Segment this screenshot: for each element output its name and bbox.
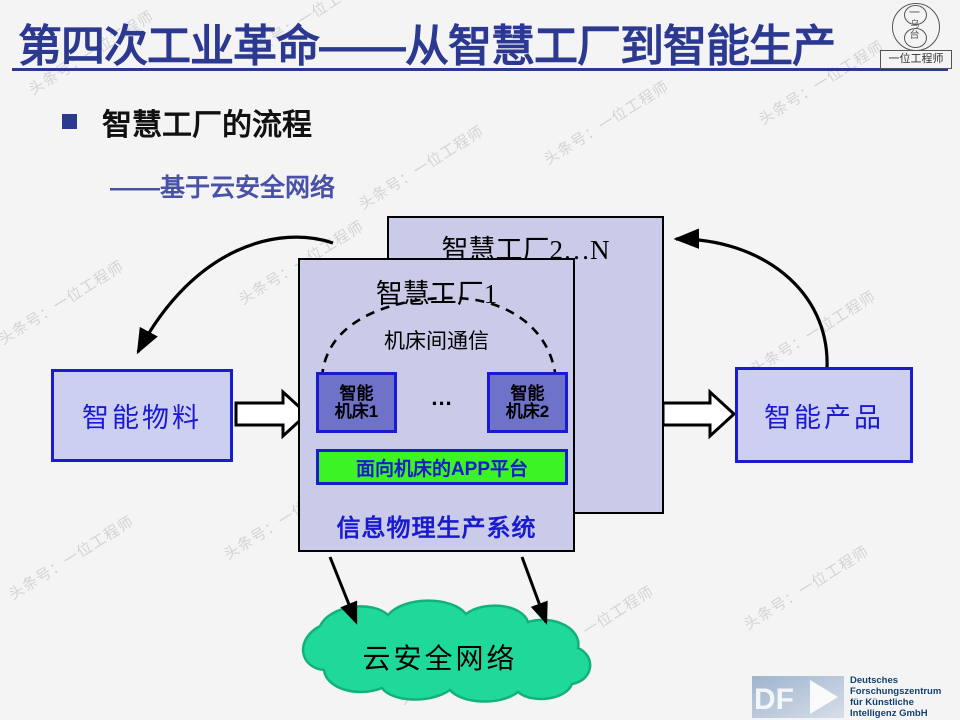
dfki-line-2: Forschungszentrum xyxy=(850,686,960,697)
arrow-factory-to-cloud-left xyxy=(330,557,356,622)
smart-machine-tool-1-box: 智能 机床1 xyxy=(316,372,397,433)
section-subheading: ——基于云安全网络 xyxy=(110,168,335,204)
watermark-text: 头条号：一位工程师 xyxy=(746,285,879,379)
factory-front-label: 智慧工厂1 xyxy=(300,272,573,311)
cyber-physical-system-label: 信息物理生产系统 xyxy=(298,508,575,543)
brand-logo: 一 乌 台 一位工程师 xyxy=(880,2,952,68)
smart-machine-tool-2-line2: 机床2 xyxy=(506,403,549,421)
watermark-text: 头条号：一位工程师 xyxy=(739,540,872,634)
title-bar: 第四次工业革命——从智慧工厂到智能生产 xyxy=(0,6,960,68)
title-divider xyxy=(12,68,948,71)
dfki-logo-text: Deutsches Forschungszentrum für Künstlic… xyxy=(850,675,960,719)
cloud-security-network-label: 云安全网络 xyxy=(290,637,590,677)
smart-machine-tool-2-line1: 智能 xyxy=(511,385,545,403)
svg-text:DF: DF xyxy=(754,683,794,716)
smart-machine-tool-1-line2: 机床1 xyxy=(335,403,378,421)
flow-arrow-factory-to-product xyxy=(663,392,734,436)
brand-logo-caption: 一位工程师 xyxy=(880,50,952,69)
dfki-mark-icon: DF xyxy=(752,676,844,718)
app-platform-box: 面向机床的APP平台 xyxy=(316,449,568,485)
dfki-line-1: Deutsches xyxy=(850,675,960,686)
bullet-square-icon xyxy=(62,114,77,129)
dfki-line-4: Intelligenz GmbH xyxy=(850,708,960,719)
smart-material-label: 智能物料 xyxy=(54,372,230,459)
watermark-text: 头条号：一位工程师 xyxy=(4,510,137,604)
smart-product-label: 智能产品 xyxy=(738,370,910,460)
smart-material-box: 智能物料 xyxy=(51,369,233,462)
dfki-logo: DF Deutsches Forschungszentrum für Künst… xyxy=(752,676,957,720)
smart-machine-tool-1-line1: 智能 xyxy=(340,385,374,403)
comm-arc-label: 机床间通信 xyxy=(298,325,575,355)
logo-glyph-bottom: 台 xyxy=(904,27,925,45)
section-heading: 智慧工厂的流程 xyxy=(102,100,312,144)
arrow-factory-to-cloud-right xyxy=(522,557,546,622)
page-title: 第四次工业革命——从智慧工厂到智能生产 xyxy=(18,10,835,74)
feedback-arrow-right xyxy=(676,239,827,368)
machine-tools-ellipsis: ... xyxy=(425,389,459,407)
section-heading-row: 智慧工厂的流程 xyxy=(62,100,582,144)
smart-machine-tool-2-box: 智能 机床2 xyxy=(487,372,568,433)
dfki-line-3: für Künstliche xyxy=(850,697,960,708)
slide-canvas: 头条号：一位工程师头条号：一位工程师头条号：一位工程师头条号：一位工程师头条号：… xyxy=(0,0,960,720)
flow-arrow-material-to-factory xyxy=(236,392,307,436)
watermark-text: 头条号：一位工程师 xyxy=(0,255,128,349)
smart-product-box: 智能产品 xyxy=(735,367,913,463)
